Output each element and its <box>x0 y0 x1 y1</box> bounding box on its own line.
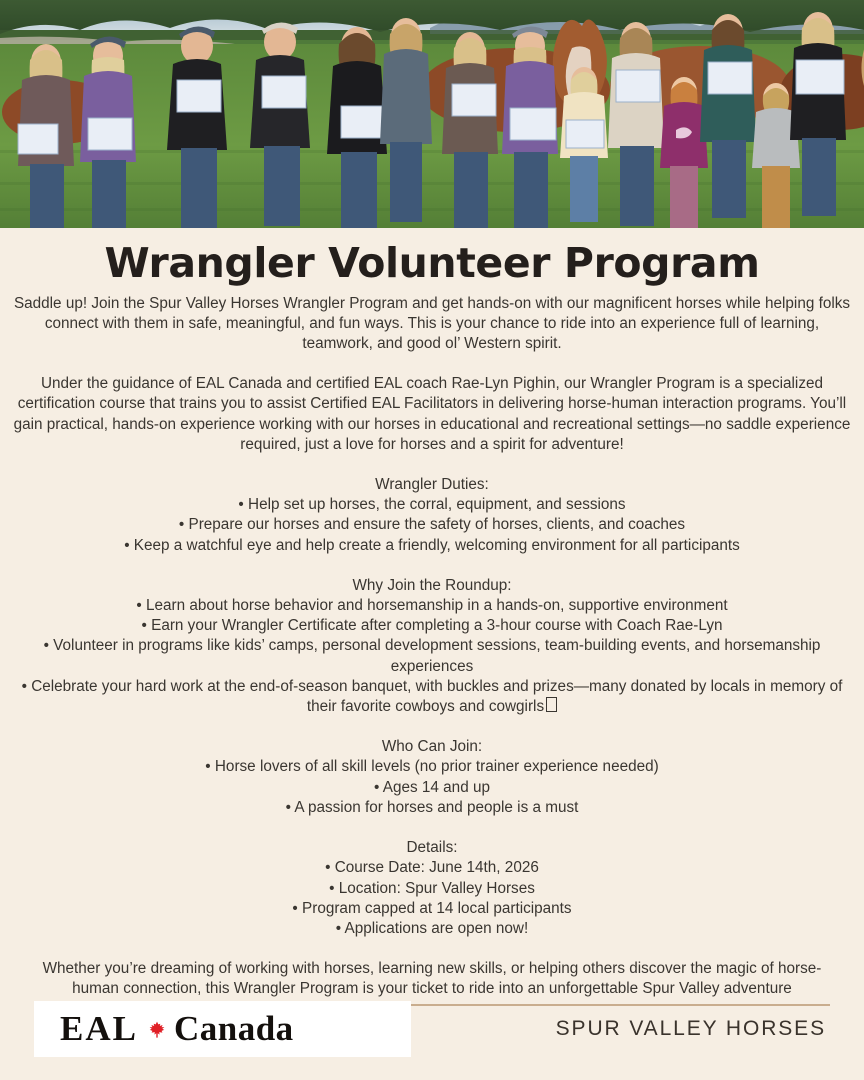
brand-name: SPUR VALLEY HORSES <box>556 1017 830 1041</box>
section-item: • Help set up horses, the corral, equipm… <box>6 495 858 515</box>
maple-leaf-icon <box>149 1021 165 1038</box>
section-heading: Details: <box>6 838 858 858</box>
spacer <box>6 717 858 737</box>
logo-word-canada: Canada <box>174 1009 294 1049</box>
section-item: • Program capped at 14 local participant… <box>6 899 858 919</box>
hero-photo-illustration <box>0 0 864 228</box>
section-item: • Earn your Wrangler Certificate after c… <box>6 616 858 636</box>
about-paragraph: Under the guidance of EAL Canada and cer… <box>6 374 858 455</box>
section-wrangler-duties: Wrangler Duties: • Help set up horses, t… <box>6 475 858 556</box>
missing-glyph-icon <box>546 697 557 712</box>
logo-word-eal: EAL <box>60 1009 138 1049</box>
eal-canada-logo: EAL Canada <box>34 1001 411 1057</box>
section-item: • A passion for horses and people is a m… <box>6 798 858 818</box>
section-item-text: • Celebrate your hard work at the end-of… <box>22 678 843 715</box>
closing-paragraph: Whether you’re dreaming of working with … <box>6 959 858 999</box>
section-item: • Horse lovers of all skill levels (no p… <box>6 757 858 777</box>
page-title: Wrangler Volunteer Program <box>0 228 864 285</box>
maple-leaf-glyph <box>149 1021 165 1038</box>
section-heading: Wrangler Duties: <box>6 475 858 495</box>
spacer <box>6 556 858 576</box>
section-item: • Celebrate your hard work at the end-of… <box>6 677 858 717</box>
section-heading: Why Join the Roundup: <box>6 576 858 596</box>
section-heading: Who Can Join: <box>6 737 858 757</box>
section-item: • Applications are open now! <box>6 919 858 939</box>
footer: EAL Canada SPUR VALLEY HORSES <box>0 1000 864 1058</box>
section-item: • Prepare our horses and ensure the safe… <box>6 515 858 535</box>
section-item: • Location: Spur Valley Horses <box>6 879 858 899</box>
spacer <box>6 455 858 475</box>
intro-paragraph: Saddle up! Join the Spur Valley Horses W… <box>6 294 858 355</box>
eal-canada-wordmark: EAL Canada <box>60 1009 294 1049</box>
section-item: • Learn about horse behavior and horsema… <box>6 596 858 616</box>
section-why-join: Why Join the Roundup: • Learn about hors… <box>6 576 858 717</box>
section-item: • Ages 14 and up <box>6 778 858 798</box>
section-details: Details: • Course Date: June 14th, 2026 … <box>6 838 858 939</box>
spacer <box>6 818 858 838</box>
hero-photo <box>0 0 864 228</box>
section-item: • Course Date: June 14th, 2026 <box>6 858 858 878</box>
section-who-can-join: Who Can Join: • Horse lovers of all skil… <box>6 737 858 818</box>
flyer-body: Saddle up! Join the Spur Valley Horses W… <box>0 294 864 1006</box>
spacer <box>6 939 858 959</box>
section-item: • Volunteer in programs like kids’ camps… <box>6 636 858 676</box>
section-item: • Keep a watchful eye and help create a … <box>6 536 858 556</box>
spacer <box>6 354 858 374</box>
